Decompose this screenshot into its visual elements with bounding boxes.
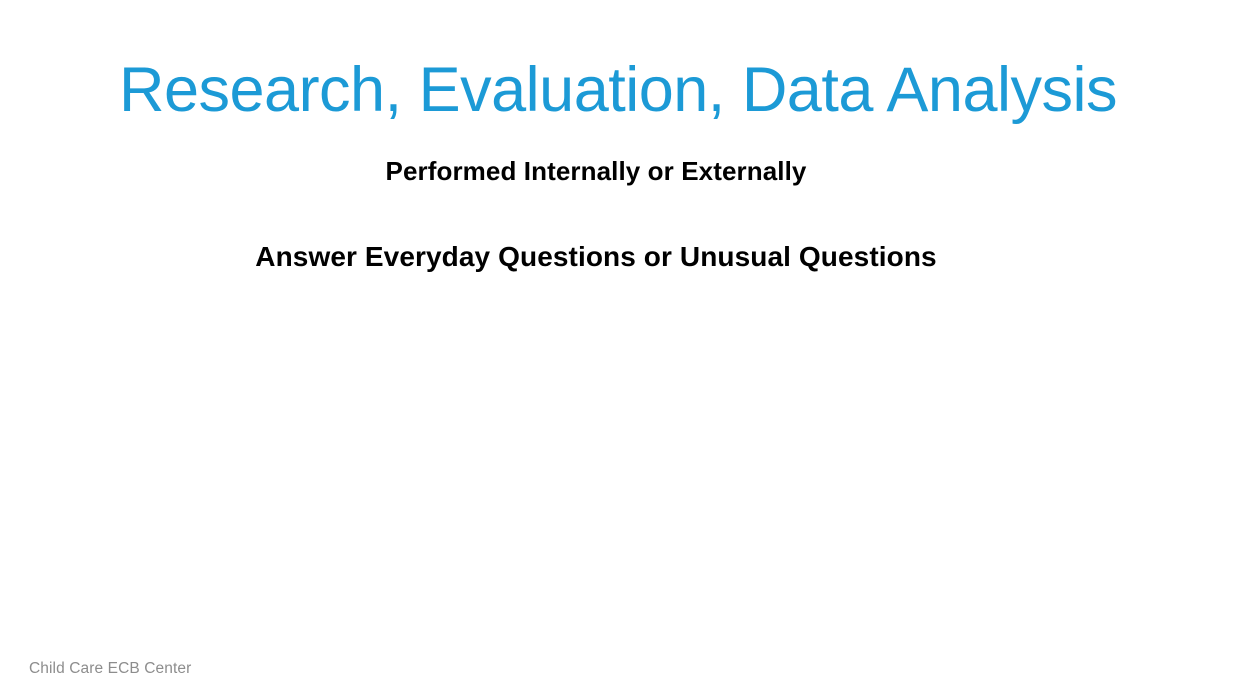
slide-canvas: Research, Evaluation, Data Analysis Perf… — [0, 0, 1236, 696]
body-line-performed-internally-or-externally: Performed Internally or Externally — [96, 150, 1096, 192]
body-line-answer-everyday-questions: Answer Everyday Questions or Unusual Que… — [96, 235, 1096, 278]
slide-title: Research, Evaluation, Data Analysis — [0, 52, 1236, 128]
body-line-spacer — [96, 192, 1096, 235]
slide-footer: Child Care ECB Center — [29, 658, 191, 680]
slide-body-text-box: Performed Internally or Externally Answe… — [96, 150, 1096, 278]
